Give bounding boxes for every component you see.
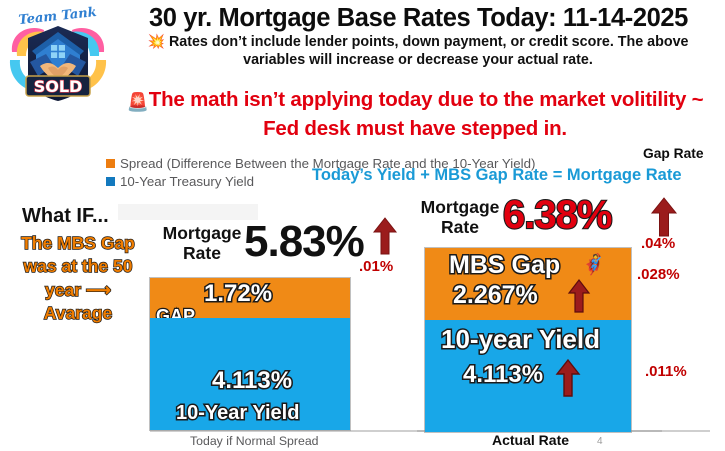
team-logo: SOLD Team Tank	[4, 2, 112, 107]
slide-canvas: SOLD Team Tank 30 yr. Mortgage Base Rate…	[0, 0, 725, 451]
right-yield-label: 10-year Yield	[441, 324, 600, 355]
left-total-up-arrow-icon	[372, 216, 398, 256]
right-mortgage-rate-label: Mortgage Rate	[412, 198, 508, 237]
whatif-note-line1: The MBS Gap	[21, 233, 135, 253]
collision-icon: 💥	[148, 33, 165, 49]
gap-rate-heading: Gap Rate	[643, 146, 704, 161]
legend-swatch-yield	[106, 177, 115, 186]
alert-banner: 🚨The math isn’t applying today due to th…	[110, 86, 720, 142]
right-arrow-icon: ⟶	[86, 280, 111, 300]
whatif-note-line2: was at the 50	[24, 256, 133, 276]
alert-label: The math isn’t applying today due to the…	[149, 88, 704, 140]
right-delta-yield: .011%	[645, 363, 687, 380]
left-yield-value: 4.113%	[212, 367, 292, 395]
formula-text: Today’s Yield + MBS Gap Rate = Mortgage …	[312, 166, 682, 185]
superhero-icon: 🦸	[581, 252, 606, 277]
right-total-up-arrow-icon	[650, 196, 678, 238]
whatif-note-line3: year	[45, 280, 81, 300]
bar-today-if-normal-spread: 1.72% GAP 4.113% 10-Year Yield	[150, 278, 350, 430]
bar-segment-yield-left: 4.113% 10-Year Yield	[150, 318, 350, 430]
whatif-heading: What IF...	[22, 205, 109, 228]
right-gap-label: MBS Gap	[449, 251, 560, 280]
left-gap-value: 1.72%	[204, 280, 272, 308]
left-delta-total: .01%	[359, 258, 393, 275]
disclaimer-label: Rates don’t include lender points, down …	[169, 34, 689, 68]
bar-segment-gap-left: 1.72% GAP	[150, 278, 350, 318]
right-delta-total: .04%	[641, 235, 675, 252]
left-mortgage-rate-label-line1: Mortgage	[163, 223, 242, 243]
right-yield-value: 4.113%	[463, 361, 543, 389]
left-mortgage-rate-label: Mortgage Rate	[154, 224, 250, 263]
category-label-right: Actual Rate	[492, 432, 569, 448]
left-yield-label: 10-Year Yield	[176, 402, 299, 425]
bar-segment-gap-right: MBS Gap 🦸 2.267%	[425, 248, 631, 320]
svg-text:Team Tank: Team Tank	[18, 5, 98, 28]
left-mortgage-rate-label-line2: Rate	[183, 243, 221, 263]
page-title: 30 yr. Mortgage Base Rates Today: 11-14-…	[112, 4, 725, 33]
bar-actual-rate: MBS Gap 🦸 2.267% 10-year Yield 4.113%	[425, 248, 631, 432]
category-label-left: Today if Normal Spread	[190, 434, 319, 448]
right-gap-value: 2.267%	[453, 281, 538, 310]
right-delta-gap: .028%	[637, 266, 680, 283]
right-mortgage-rate-label-line1: Mortgage	[421, 197, 500, 217]
legend-label-yield: 10-Year Treasury Yield	[120, 174, 254, 189]
right-gap-up-arrow-icon	[567, 278, 591, 319]
bar-segment-yield-right: 10-year Yield 4.113%	[425, 320, 631, 432]
disclaimer-text: 💥 Rates don’t include lender points, dow…	[118, 33, 718, 70]
right-mortgage-rate-value: 6.38%	[503, 193, 611, 238]
background-smudge	[118, 204, 258, 220]
siren-icon: 🚨	[127, 92, 149, 112]
legend-swatch-spread	[106, 159, 115, 168]
whatif-note: The MBS Gap was at the 50 year ⟶ Avarage	[8, 232, 148, 325]
whatif-note-line4: Avarage	[44, 303, 112, 323]
right-yield-up-arrow-icon	[555, 358, 581, 403]
slide-number: 4	[597, 436, 603, 447]
left-mortgage-rate-value: 5.83%	[244, 217, 364, 267]
right-mortgage-rate-label-line2: Rate	[441, 217, 479, 237]
svg-text:SOLD: SOLD	[34, 77, 83, 96]
